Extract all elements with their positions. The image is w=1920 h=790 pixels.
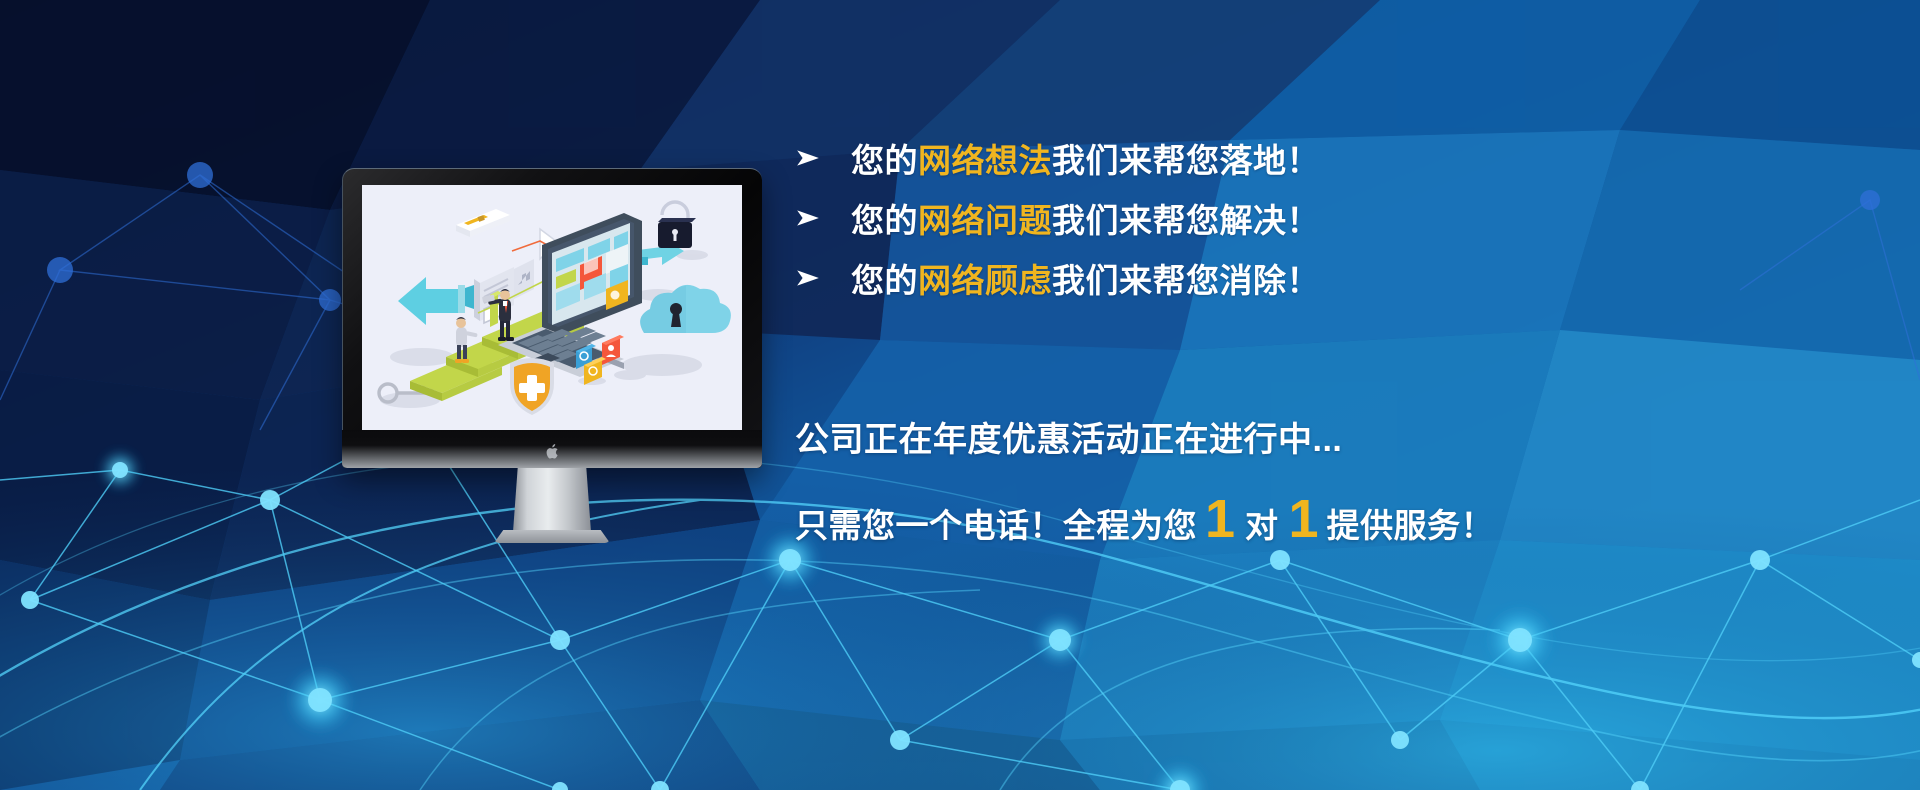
promo-big-number-2: 1	[1281, 495, 1327, 544]
bullet-highlight-1: 网络想法	[918, 142, 1052, 179]
bullet-highlight-2: 网络问题	[918, 202, 1052, 239]
bullet-suffix-1: 我们来帮您落地！	[1052, 142, 1320, 179]
bullet-row-3: 您的网络顾虑我们来帮您消除！	[795, 248, 1575, 308]
bullet-row-1: 您的网络想法我们来帮您落地！	[795, 128, 1575, 188]
monitor-stand-base	[494, 530, 610, 543]
monitor-stand-neck	[513, 468, 591, 532]
monitor-chin	[342, 430, 762, 468]
promo-line-2-part2: 提供服务！	[1327, 499, 1495, 547]
arrow-bullet-icon	[795, 265, 821, 291]
bullet-text-3: 您的网络顾虑我们来帮您消除！	[851, 254, 1320, 302]
promo-banner: 您的网络想法我们来帮您落地！ 您的网络问题我们来帮您解决！ 您的网络顾虑我们来帮…	[0, 0, 1920, 790]
apple-logo-icon	[546, 444, 559, 459]
bullet-highlight-3: 网络顾虑	[918, 262, 1052, 299]
imac-display-illustration	[342, 168, 762, 468]
bullet-prefix-2: 您的	[851, 202, 918, 239]
isometric-security-scene	[362, 185, 742, 430]
bullet-text-1: 您的网络想法我们来帮您落地！	[851, 134, 1320, 182]
bullet-text-2: 您的网络问题我们来帮您解决！	[851, 194, 1320, 242]
bullet-suffix-2: 我们来帮您解决！	[1052, 202, 1320, 239]
bullet-suffix-3: 我们来帮您消除！	[1052, 262, 1320, 299]
bullet-row-2: 您的网络问题我们来帮您解决！	[795, 188, 1575, 248]
promo-line-2-mid: 对	[1243, 499, 1281, 547]
bullet-prefix-1: 您的	[851, 142, 918, 179]
monitor-screen	[362, 185, 742, 430]
promo-big-number-1: 1	[1197, 495, 1243, 544]
arrow-bullet-icon	[795, 205, 821, 231]
bullet-prefix-3: 您的	[851, 262, 918, 299]
promo-line-2: 只需您一个电话！全程为您 1 对 1 提供服务！	[795, 495, 1494, 547]
polygon-background	[0, 0, 1920, 790]
promo-line-2-part1: 只需您一个电话！全程为您	[795, 499, 1197, 547]
headline-list: 您的网络想法我们来帮您落地！ 您的网络问题我们来帮您解决！ 您的网络顾虑我们来帮…	[795, 128, 1575, 308]
arrow-bullet-icon	[795, 145, 821, 171]
promo-line-1: 公司正在年度优惠活动正在进行中...	[795, 412, 1342, 461]
